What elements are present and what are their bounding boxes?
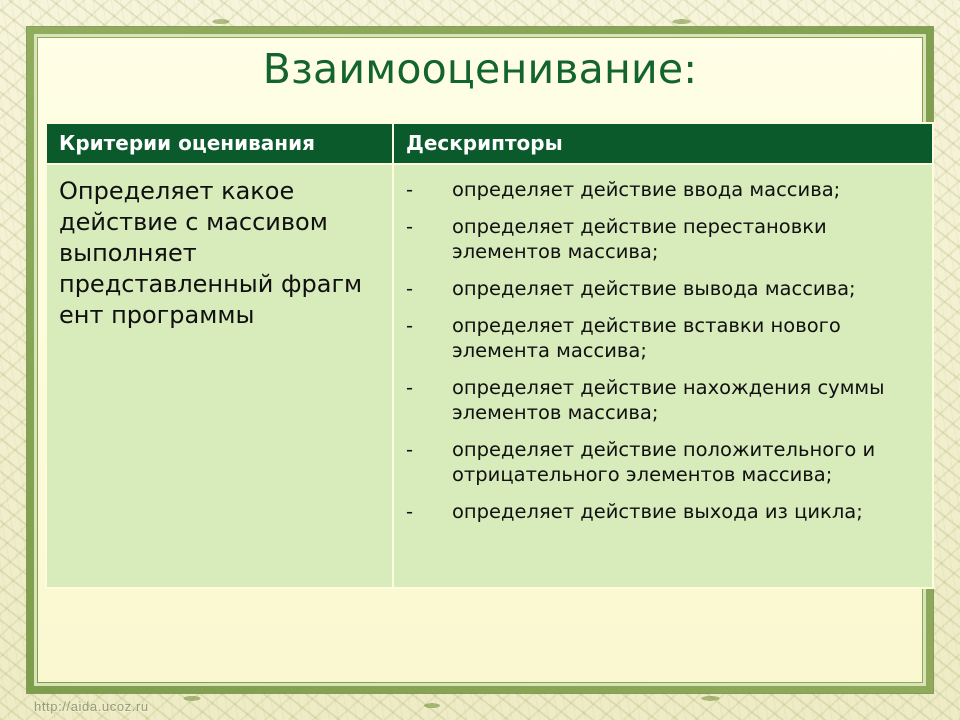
descriptor-list: - определяет действие ввода массива; - о… — [394, 165, 932, 524]
table-header-row: Критерии оценивания Дескрипторы — [46, 123, 933, 164]
page-title: Взаимооценивание: — [38, 44, 922, 94]
descriptors-cell: - определяет действие ввода массива; - о… — [393, 164, 933, 588]
column-header-criteria: Критерии оценивания — [46, 123, 393, 164]
descriptor-text: определяет действие нахождения суммы эле… — [452, 376, 885, 424]
list-item: - определяет действие перестановки элеме… — [406, 214, 922, 264]
descriptor-text: определяет действие выхода из цикла; — [452, 500, 863, 523]
criteria-text: Определяет какое действие с массивом вып… — [47, 165, 392, 331]
presentation-slide: Взаимооценивание: Критерии оценивания Де… — [0, 0, 960, 720]
list-item: - определяет действие нахождения суммы э… — [406, 375, 922, 425]
list-item: - определяет действие вывода массива; — [406, 276, 922, 301]
table-row: Определяет какое действие с массивом вып… — [46, 164, 933, 588]
column-header-descriptors: Дескрипторы — [393, 123, 933, 164]
table-body: Определяет какое действие с массивом вып… — [46, 164, 933, 588]
descriptor-text: определяет действие перестановки элемент… — [452, 215, 827, 263]
bullet-dash-marker: - — [406, 499, 420, 524]
list-item: - определяет действие вставки нового эле… — [406, 313, 922, 363]
list-item: - определяет действие выхода из цикла; — [406, 499, 922, 524]
slide-canvas: Взаимооценивание: Критерии оценивания Де… — [38, 38, 922, 682]
bullet-dash-marker: - — [406, 214, 420, 239]
list-item: - определяет действие положительного и о… — [406, 437, 922, 487]
table-header: Критерии оценивания Дескрипторы — [46, 123, 933, 164]
bullet-dash-marker: - — [406, 177, 420, 202]
bullet-dash-marker: - — [406, 375, 420, 400]
descriptor-text: определяет действие ввода массива; — [452, 178, 840, 201]
descriptor-text: определяет действие вывода массива; — [452, 277, 856, 300]
bullet-dash-marker: - — [406, 276, 420, 301]
bullet-dash-marker: - — [406, 313, 420, 338]
criteria-cell: Определяет какое действие с массивом вып… — [46, 164, 393, 588]
bullet-dash-marker: - — [406, 437, 420, 462]
list-item: - определяет действие ввода массива; — [406, 177, 922, 202]
descriptor-text: определяет действие положительного и отр… — [452, 438, 875, 486]
descriptor-text: определяет действие вставки нового элеме… — [452, 314, 841, 362]
assessment-criteria-table: Критерии оценивания Дескрипторы Определя… — [45, 122, 934, 589]
